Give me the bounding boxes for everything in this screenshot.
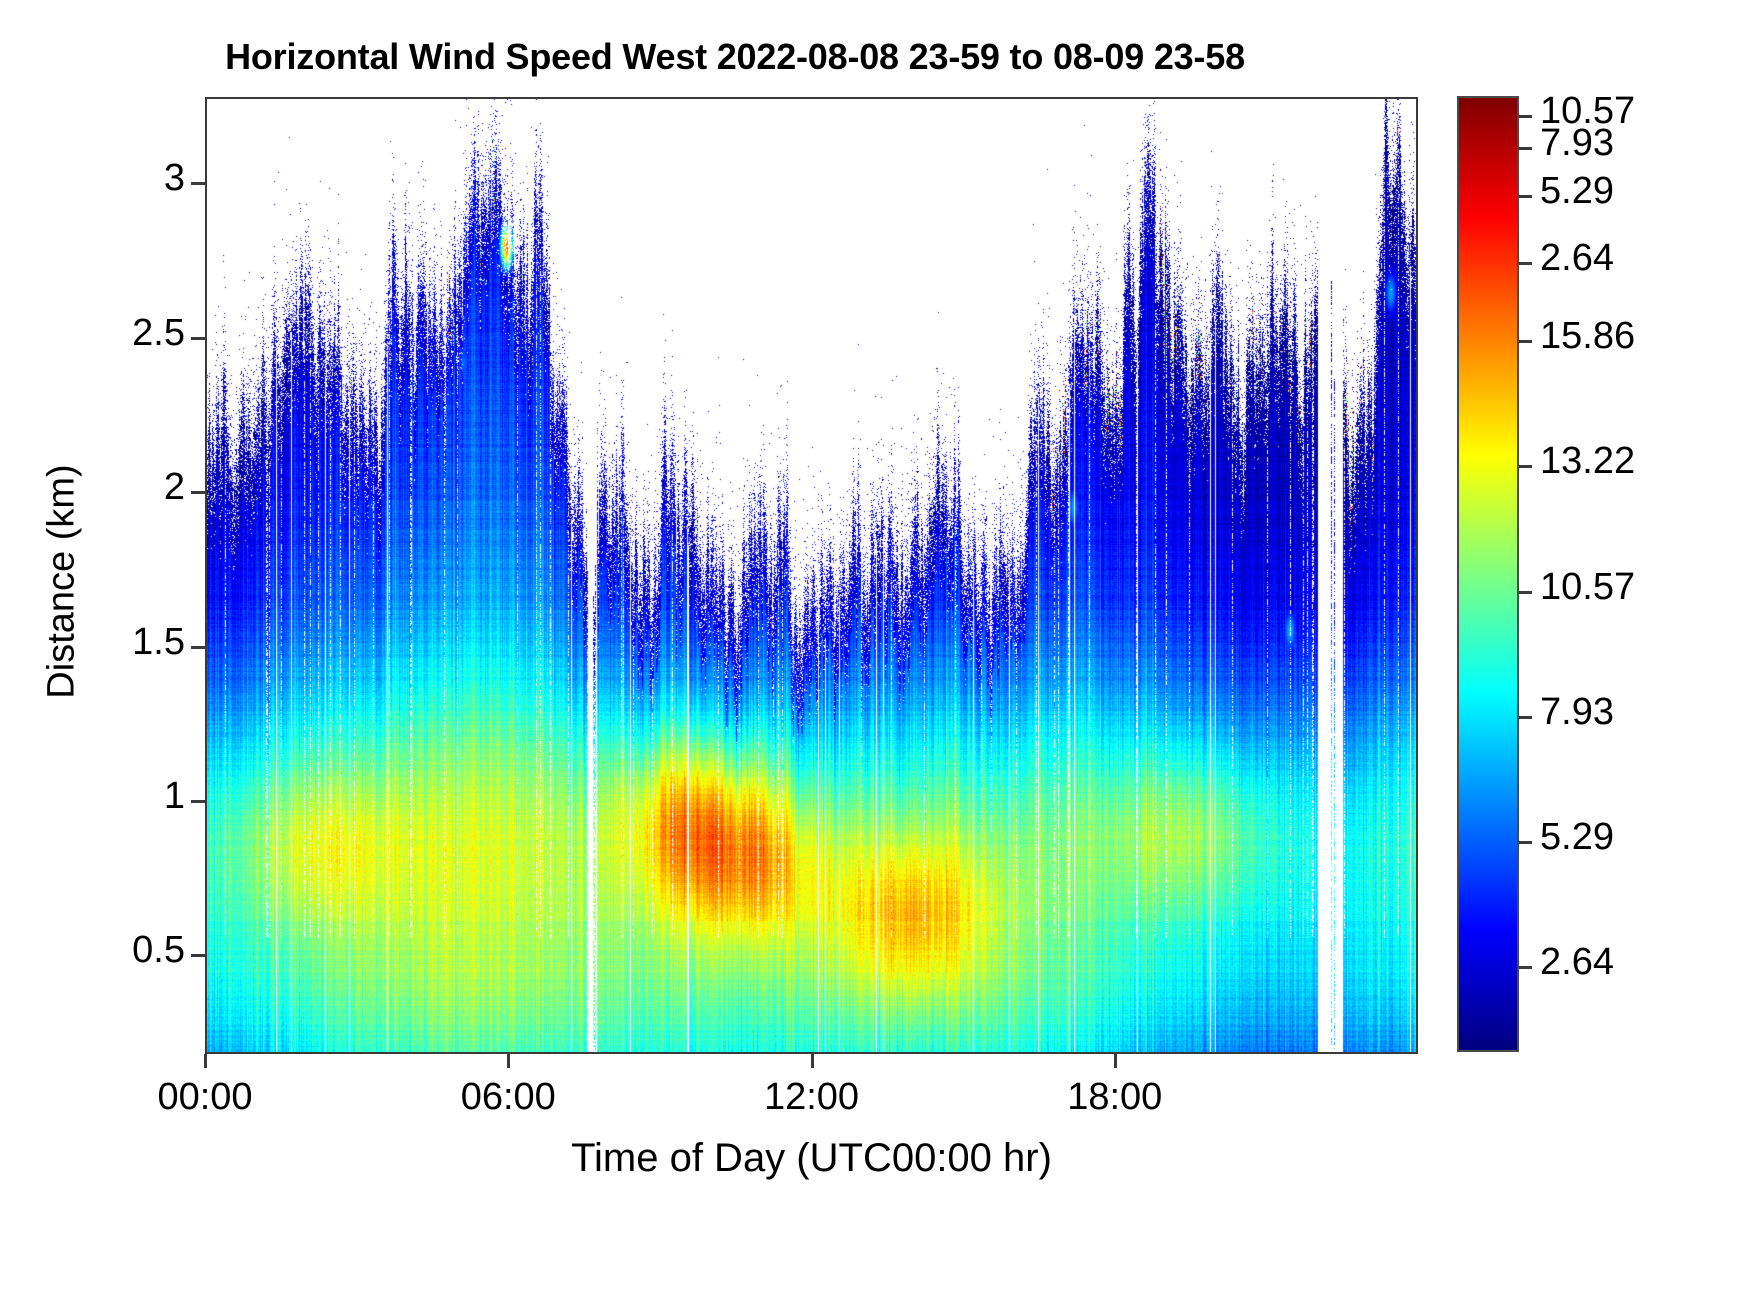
colorbar-tick-label: 5.29 (1540, 816, 1614, 859)
colorbar[interactable] (1457, 96, 1519, 1052)
colorbar-tick-mark (1519, 147, 1532, 150)
colorbar-tick-mark (1519, 591, 1532, 594)
colorbar-tick-label: 13.22 (1540, 440, 1635, 483)
x-tick-label: 00:00 (105, 1076, 305, 1119)
colorbar-tick-label: 7.93 (1540, 691, 1614, 734)
y-tick-mark (191, 800, 205, 803)
colorbar-tick-mark (1519, 465, 1532, 468)
heatmap-image (207, 99, 1416, 1052)
y-tick-label: 3 (164, 157, 185, 200)
y-tick-label: 1.5 (132, 621, 185, 664)
colorbar-tick-label: 15.86 (1540, 315, 1635, 358)
y-tick-label: 1 (164, 775, 185, 818)
colorbar-tick-mark (1519, 841, 1532, 844)
colorbar-tick-mark (1519, 115, 1532, 118)
y-tick-mark (191, 954, 205, 957)
x-tick-label: 18:00 (1015, 1076, 1215, 1119)
x-tick-mark (1114, 1054, 1117, 1068)
x-tick-mark (204, 1054, 207, 1068)
x-tick-label: 06:00 (408, 1076, 608, 1119)
figure-canvas: Horizontal Wind Speed West 2022-08-08 23… (0, 0, 1750, 1313)
x-tick-mark (811, 1054, 814, 1068)
y-tick-label: 2 (164, 466, 185, 509)
colorbar-tick-label: 5.29 (1540, 170, 1614, 213)
y-tick-mark (191, 491, 205, 494)
y-tick-mark (191, 337, 205, 340)
x-tick-mark (507, 1054, 510, 1068)
y-tick-label: 0.5 (132, 929, 185, 972)
colorbar-tick-mark (1519, 340, 1532, 343)
colorbar-tick-label: 2.64 (1540, 237, 1614, 280)
y-tick-label: 2.5 (132, 312, 185, 355)
colorbar-tick-mark (1519, 716, 1532, 719)
colorbar-gradient (1459, 98, 1517, 1050)
colorbar-tick-mark (1519, 262, 1532, 265)
chart-title: Horizontal Wind Speed West 2022-08-08 23… (0, 36, 1470, 78)
colorbar-tick-label: 10.57 (1540, 566, 1635, 609)
plot-area[interactable] (205, 97, 1418, 1054)
y-axis-label: Distance (km) (41, 302, 84, 862)
y-tick-mark (191, 646, 205, 649)
colorbar-tick-mark (1519, 966, 1532, 969)
colorbar-tick-label: 2.64 (1540, 941, 1614, 984)
x-axis-label: Time of Day (UTC00:00 hr) (205, 1136, 1418, 1181)
y-tick-mark (191, 182, 205, 185)
colorbar-tick-mark (1519, 195, 1532, 198)
x-tick-label: 12:00 (712, 1076, 912, 1119)
colorbar-tick-label: 10.57 (1540, 90, 1635, 133)
